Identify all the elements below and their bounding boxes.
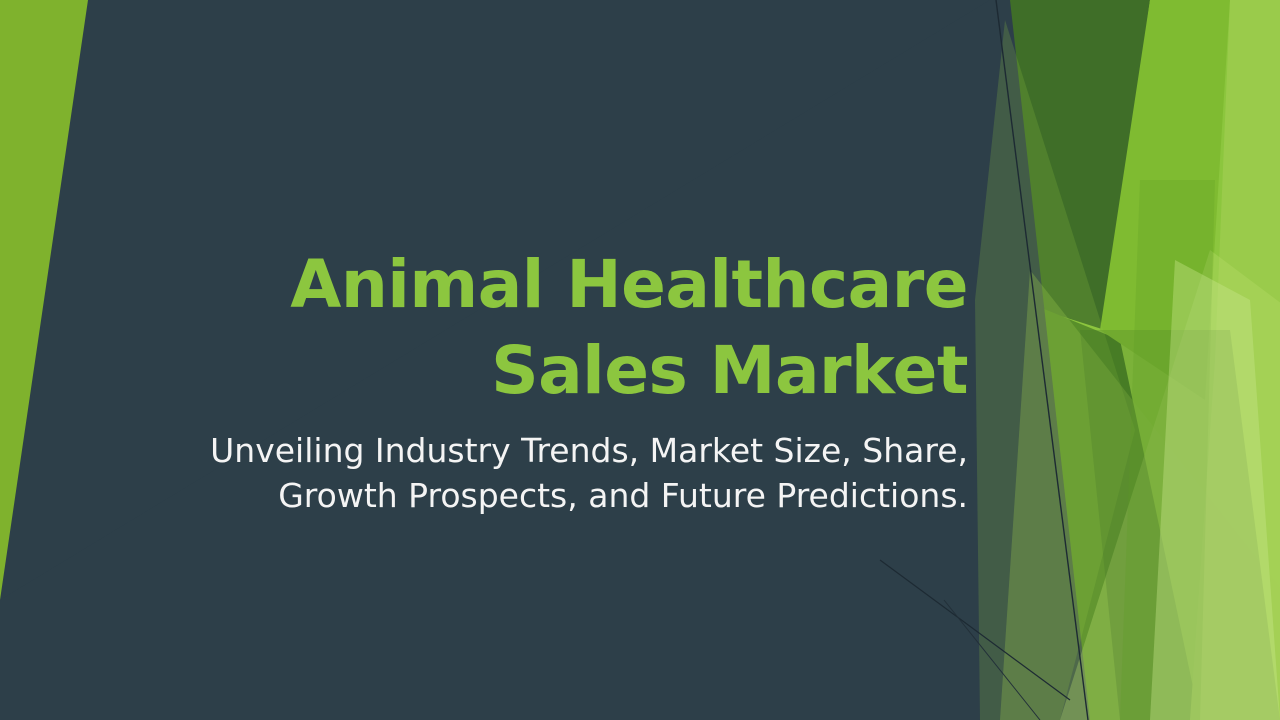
slide-text-block: Animal Healthcare Sales Market Unveiling… — [150, 242, 968, 519]
title-slide: Animal Healthcare Sales Market Unveiling… — [0, 0, 1280, 720]
slide-subtitle: Unveiling Industry Trends, Market Size, … — [150, 428, 968, 519]
page-title: Animal Healthcare Sales Market — [150, 242, 968, 414]
